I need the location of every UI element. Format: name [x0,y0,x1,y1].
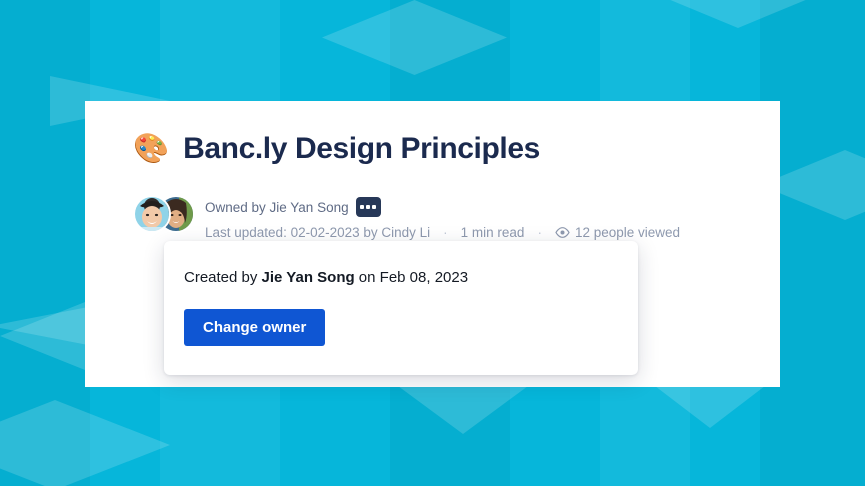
avatar[interactable] [133,195,171,233]
avatar-group [133,195,199,239]
views-label: 12 people viewed [575,225,680,240]
owner-row: Owned by Jie Yan Song [205,196,680,218]
document-meta: Owned by Jie Yan Song Last updated: 02-0… [133,194,680,240]
page-title-row: 🎨 Banc.ly Design Principles [133,132,540,166]
created-by-date: on Feb 08, 2023 [355,269,468,286]
owner-label: Owned by Jie Yan Song [205,200,349,215]
bg-diamond [0,400,170,486]
owner-popover: Created by Jie Yan Song on Feb 08, 2023 … [164,241,638,375]
meta-separator: · [537,225,542,240]
ellipsis-icon[interactable] [356,197,381,217]
page-title: Banc.ly Design Principles [183,132,540,166]
avatar-image [135,197,169,231]
created-by-name: Jie Yan Song [262,269,355,286]
bg-diamond [322,0,507,75]
change-owner-button[interactable]: Change owner [184,309,325,346]
ellipsis-dot [366,205,370,209]
read-time-label: 1 min read [461,225,525,240]
created-by-line: Created by Jie Yan Song on Feb 08, 2023 [184,269,638,286]
decorative-background: 🎨 Banc.ly Design Principles [0,0,865,486]
last-updated-label: Last updated: 02-02-2023 by Cindy Li [205,225,430,240]
views-group: 12 people viewed [555,225,680,240]
artist-palette-icon: 🎨 [133,135,169,164]
bg-triangle [398,386,528,434]
bg-triangle [655,386,765,428]
ellipsis-dot [360,205,364,209]
ellipsis-dot [372,205,376,209]
bg-column [0,0,90,486]
eye-icon [555,227,570,238]
bg-diamond [668,0,808,28]
last-updated-row: Last updated: 02-02-2023 by Cindy Li · 1… [205,225,680,240]
meta-separator: · [443,225,448,240]
meta-text-block: Owned by Jie Yan Song Last updated: 02-0… [205,194,680,240]
created-by-prefix: Created by [184,269,262,286]
